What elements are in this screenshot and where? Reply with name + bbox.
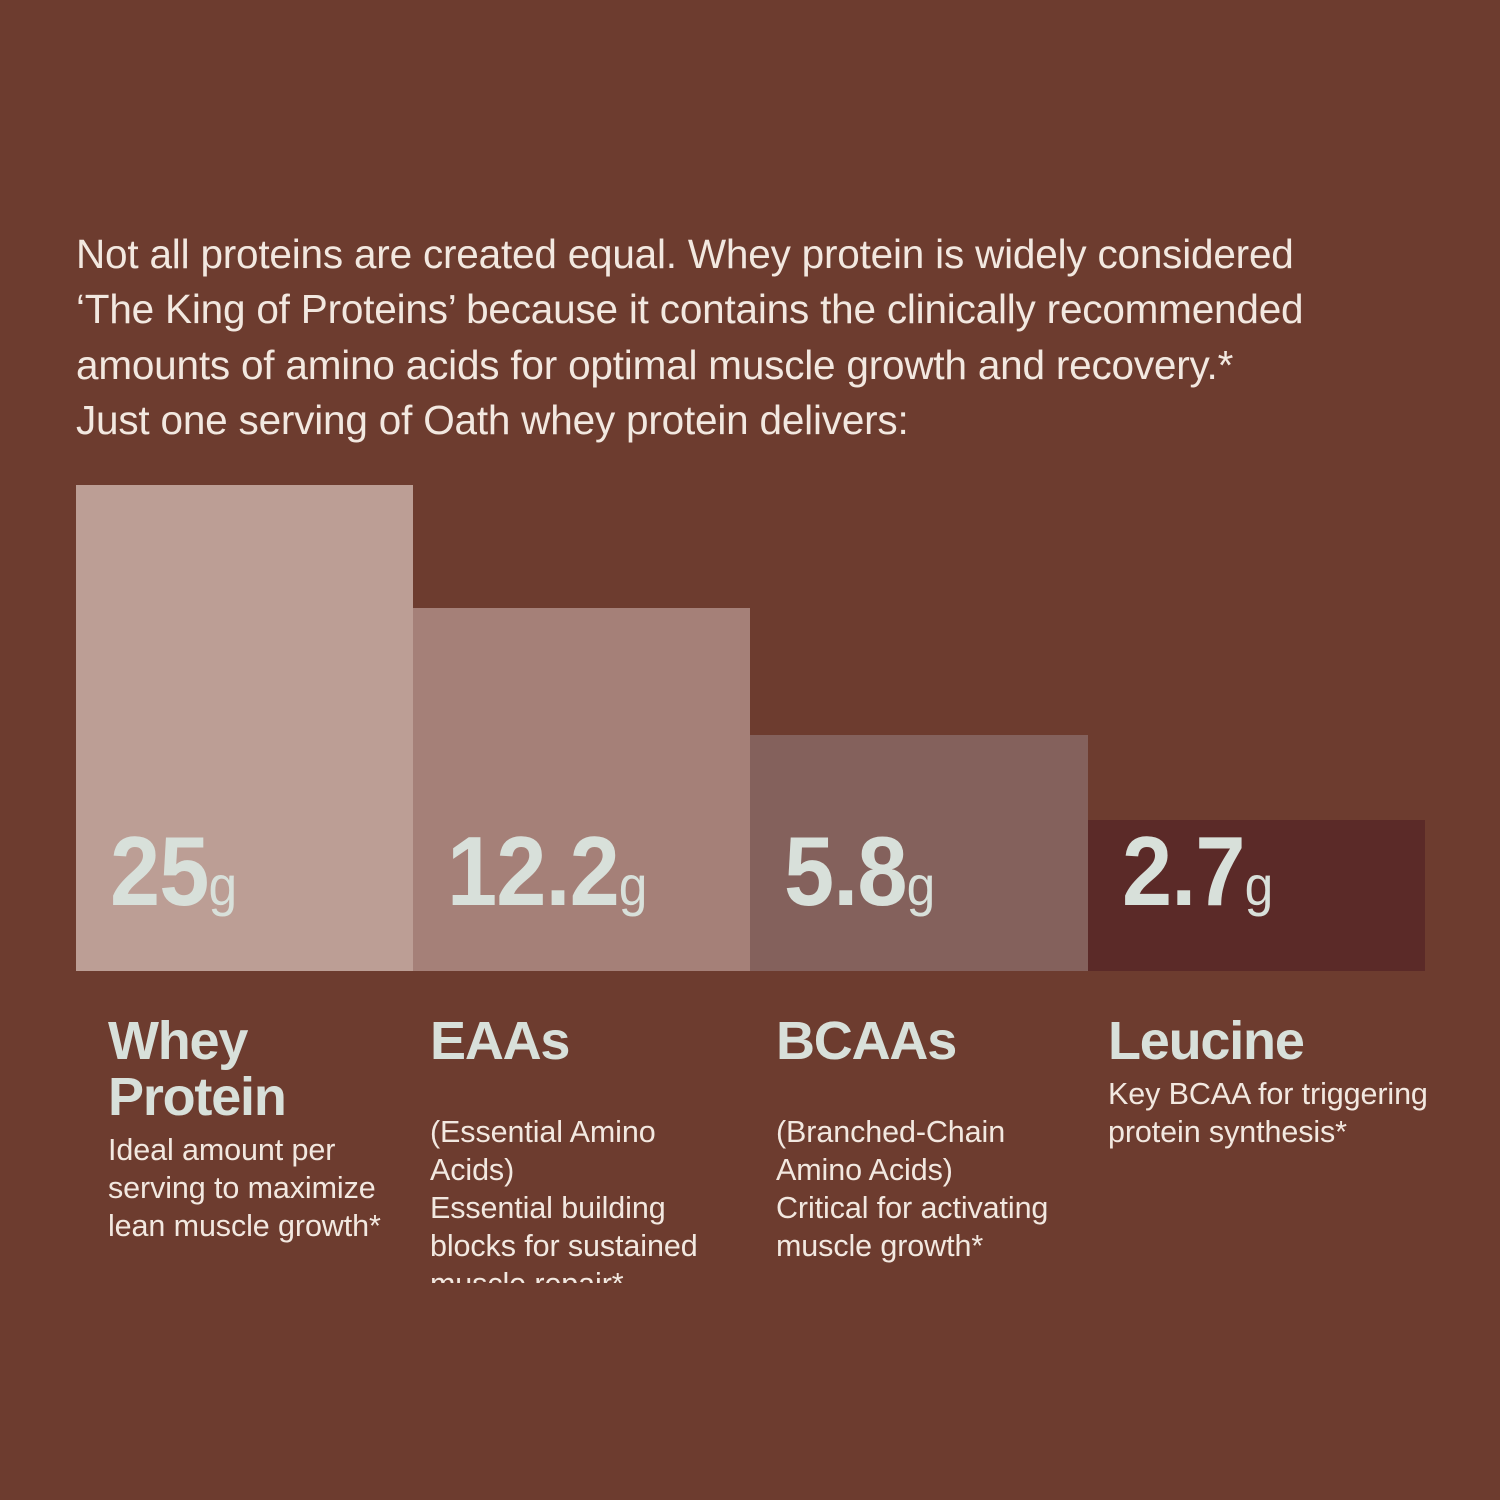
column-title-whey-protein: Whey Protein — [108, 1013, 408, 1125]
bar-whey-protein: 25g — [76, 485, 413, 971]
column-paren-bcaas: (Branched-Chain Amino Acids) — [776, 1113, 1076, 1189]
bar-eaas: 12.2g — [413, 608, 750, 971]
bar-value-bcaas: 5.8g — [784, 822, 935, 935]
column-title-bcaas: BCAAs — [776, 1013, 1076, 1069]
bar-value-eaas: 12.2g — [447, 822, 647, 935]
column-desc-leucine: Key BCAA for triggering protein synthesi… — [1108, 1075, 1438, 1151]
bar-leucine: 2.7g — [1088, 820, 1425, 971]
column-paren-eaas: (Essential Amino Acids) — [430, 1113, 730, 1189]
bar-value-whey-protein: 25g — [110, 822, 237, 935]
column-label-leucine: Leucine Key BCAA for triggering protein … — [1108, 1013, 1438, 1283]
column-desc-eaas: (Essential Amino Acids)Essential buildin… — [430, 1075, 730, 1283]
bar-value-leucine: 2.7g — [1122, 822, 1273, 935]
column-title-leucine: Leucine — [1108, 1013, 1438, 1069]
column-desc-bcaas: (Branched-Chain Amino Acids)Critical for… — [776, 1075, 1076, 1265]
column-label-eaas: EAAs (Essential Amino Acids)Essential bu… — [430, 1013, 730, 1283]
column-desc-text-bcaas: Critical for activating muscle growth* — [776, 1191, 1048, 1263]
protein-bar-chart: 25g 12.2g 5.8g 2.7g Whey Protein Ideal a… — [0, 0, 1500, 1500]
column-label-bcaas: BCAAs (Branched-Chain Amino Acids)Critic… — [776, 1013, 1076, 1283]
column-desc-text-eaas: Essential building blocks for sustained … — [430, 1191, 698, 1283]
column-desc-whey-protein: Ideal amount per serving to maximize lea… — [108, 1131, 408, 1245]
column-title-eaas: EAAs — [430, 1013, 730, 1069]
infographic-page: Not all proteins are created equal. Whey… — [0, 0, 1500, 1500]
column-label-whey-protein: Whey Protein Ideal amount per serving to… — [108, 1013, 408, 1270]
bar-bcaas: 5.8g — [750, 735, 1088, 971]
